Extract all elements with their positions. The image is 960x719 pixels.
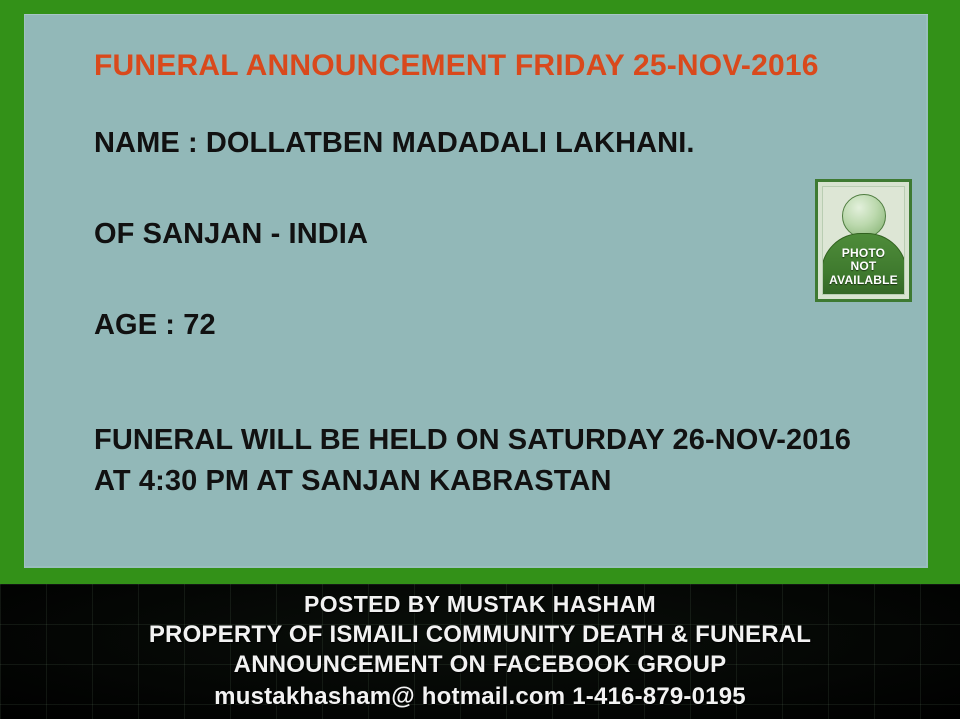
origin-line: OF SANJAN - INDIA: [94, 220, 794, 249]
footer-property-line: PROPERTY OF ISMAILI COMMUNITY DEATH & FU…: [0, 621, 960, 649]
funeral-detail-line-1: FUNERAL WILL BE HELD ON SATURDAY 26-NOV-…: [94, 426, 794, 455]
photo-not-available-placeholder: PHOTO NOT AVAILABLE: [815, 179, 912, 302]
announcement-body: NAME : DOLLATBEN MADADALI LAKHANI. OF SA…: [94, 115, 794, 496]
footer-contact-line: mustakhasham@ hotmail.com 1-416-879-0195: [0, 683, 960, 711]
footer-group-line: ANNOUNCEMENT ON FACEBOOK GROUP: [0, 651, 960, 679]
photo-caption-line-2: NOT: [823, 260, 904, 273]
photo-caption-line-1: PHOTO: [823, 247, 904, 260]
deceased-name-line: NAME : DOLLATBEN MADADALI LAKHANI.: [94, 129, 794, 158]
photo-caption-line-3: AVAILABLE: [823, 274, 904, 287]
footer-credit-block: POSTED BY MUSTAK HASHAM PROPERTY OF ISMA…: [0, 591, 960, 711]
poster-footer: POSTED BY MUSTAK HASHAM PROPERTY OF ISMA…: [0, 584, 960, 719]
photo-placeholder-inner: PHOTO NOT AVAILABLE: [822, 186, 905, 295]
announcement-headline: FUNERAL ANNOUNCEMENT FRIDAY 25-NOV-2016: [94, 49, 819, 83]
age-line: AGE : 72: [94, 311, 794, 340]
funeral-detail-line-2: AT 4:30 PM AT SANJAN KABRASTAN: [94, 467, 794, 496]
footer-posted-by: POSTED BY MUSTAK HASHAM: [0, 591, 960, 618]
photo-placeholder-caption: PHOTO NOT AVAILABLE: [823, 247, 904, 287]
green-border-frame: FUNERAL ANNOUNCEMENT FRIDAY 25-NOV-2016 …: [0, 0, 960, 584]
person-head-icon: [842, 194, 886, 238]
announcement-panel: FUNERAL ANNOUNCEMENT FRIDAY 25-NOV-2016 …: [24, 14, 928, 568]
funeral-announcement-poster: FUNERAL ANNOUNCEMENT FRIDAY 25-NOV-2016 …: [0, 0, 960, 719]
